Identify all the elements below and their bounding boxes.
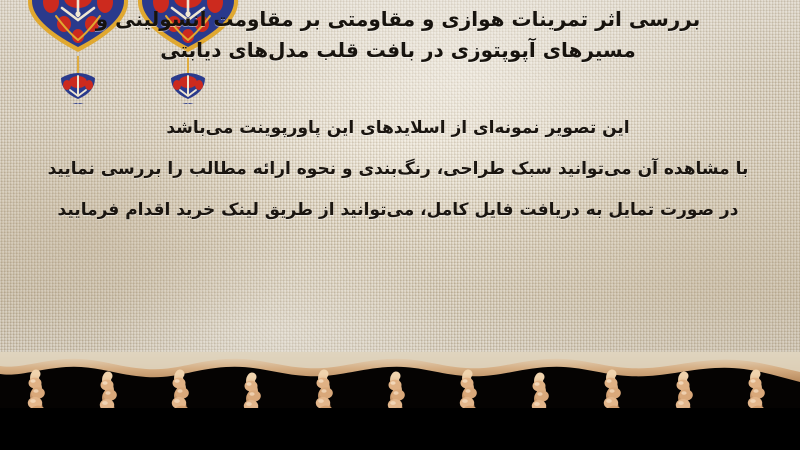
text-layer: بررسی اثر تمرینات هوازی و مقاومتی بر مقا…	[0, 0, 800, 378]
title-line-1: بررسی اثر تمرینات هوازی و مقاومتی بر مقا…	[8, 4, 788, 35]
title-line-2: مسیرهای آپوپتوزی در بافت قلب مدل‌های دیا…	[8, 35, 788, 66]
body-line-1: این تصویر نمونه‌ای از اسلایدهای این پاور…	[6, 108, 790, 149]
body-line-3: در صورت تمایل به دریافت فایل کامل، می‌تو…	[6, 190, 790, 231]
slide-body: این تصویر نمونه‌ای از اسلایدهای این پاور…	[6, 108, 790, 231]
body-line-2: با مشاهده آن می‌توانید سبک طراحی، رنگ‌بن…	[6, 149, 790, 190]
black-footer-band	[0, 408, 800, 450]
slide-canvas: بررسی اثر تمرینات هوازی و مقاومتی بر مقا…	[0, 0, 800, 450]
slide-title: بررسی اثر تمرینات هوازی و مقاومتی بر مقا…	[8, 4, 788, 66]
